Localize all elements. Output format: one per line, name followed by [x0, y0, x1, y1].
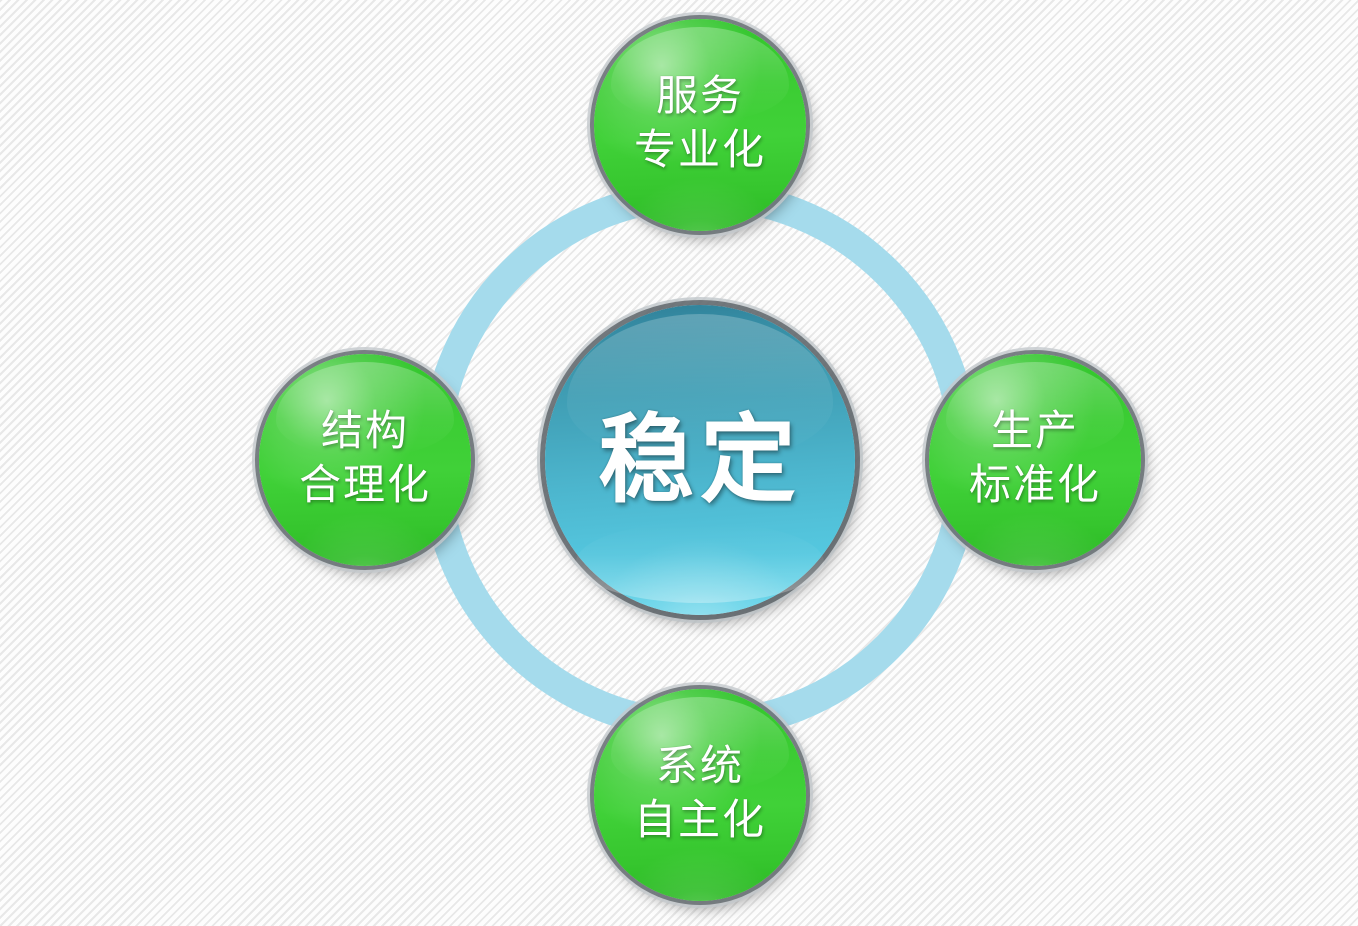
- node-label-right: 生产 标准化: [969, 406, 1101, 514]
- diagram-canvas: 稳定 服务 专业化 生产 标准化 系统 自主化 结构 合理化: [0, 0, 1358, 926]
- node-production-standardization[interactable]: 生产 标准化: [929, 354, 1141, 566]
- center-node-label: 稳定: [598, 412, 802, 508]
- center-node-stability[interactable]: 稳定: [545, 305, 855, 615]
- node-structure-rationalization[interactable]: 结构 合理化: [259, 354, 471, 566]
- node-label-bottom: 系统 自主化: [634, 741, 766, 849]
- node-label-left: 结构 合理化: [299, 406, 431, 514]
- node-label-top: 服务 专业化: [634, 71, 766, 179]
- node-system-autonomy[interactable]: 系统 自主化: [594, 689, 806, 901]
- node-service-specialization[interactable]: 服务 专业化: [594, 19, 806, 231]
